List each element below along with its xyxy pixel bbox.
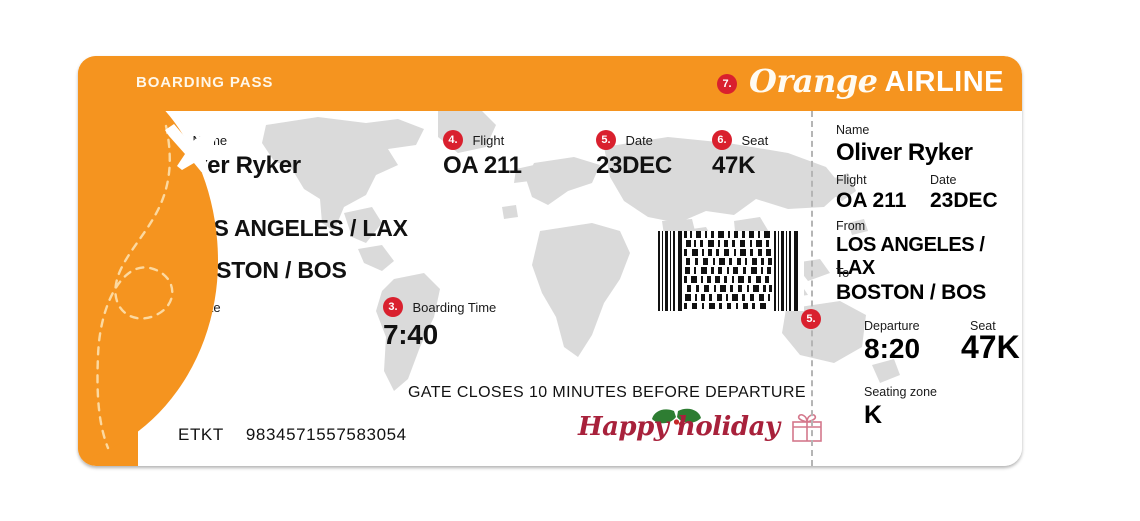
airline-brand: 7. Orange AIRLINE [717, 61, 1004, 106]
stub-seating-zone-label: Seating zone [864, 385, 937, 399]
stub-from-value: LOS ANGELES / LAX [836, 234, 1022, 280]
stub-date-label: Date [930, 173, 956, 187]
field-seat: 6. Seat 47K [712, 130, 768, 180]
badge-6: 6. [712, 130, 732, 150]
date-label: Date [625, 133, 652, 148]
stub-name-value: Oliver Ryker [836, 139, 973, 167]
stub-from-label: From [836, 219, 865, 233]
badge-7: 7. [717, 74, 737, 94]
stub-departure-value: 8:20 [864, 333, 920, 365]
stub-date-value: 23DEC [930, 189, 998, 213]
gift-box-icon [790, 411, 824, 443]
seat-label: Seat [741, 133, 768, 148]
boarding-time-label: Boarding Time [412, 300, 496, 315]
brand-bold-name: AIRLINE [885, 68, 1005, 100]
airplane-icon [160, 118, 224, 176]
field-flight: 4. Flight OA 211 [443, 130, 522, 180]
ticket-stub: Name Oliver Ryker Flight Date OA 211 23D… [828, 111, 1022, 466]
flight-value: OA 211 [443, 152, 522, 180]
stub-name-label: Name [836, 123, 869, 137]
stub-to-label: To [836, 266, 849, 280]
badge-5-departure: 5. [801, 309, 821, 329]
badge-3: 3. [383, 297, 403, 317]
field-date: 5. Date 23DEC [596, 130, 672, 180]
happy-holiday-mark: Happy holiday [578, 411, 824, 443]
brand-script-name: Orange [749, 65, 877, 102]
seat-value: 47K [712, 152, 768, 180]
pdf417-barcode [656, 231, 804, 311]
badge-5-date: 5. [596, 130, 616, 150]
gate-closes-notice: GATE CLOSES 10 MINUTES BEFORE DEPARTURE [408, 384, 806, 402]
from-label: From [182, 200, 408, 215]
holiday-text: Happy holiday [578, 412, 780, 442]
stub-seating-zone-value: K [864, 401, 882, 430]
page-title: BOARDING PASS [136, 74, 273, 91]
stub-departure-label: Departure [864, 319, 920, 333]
date-value: 23DEC [596, 152, 672, 180]
boarding-pass-card: BOARDING PASS 7. Orange AIRLINE [78, 56, 1022, 466]
tear-line-divider [811, 111, 813, 466]
field-boarding-time: 3. Boarding Time 7:40 [383, 297, 496, 351]
etkt-number: 9834571557583054 [246, 425, 407, 444]
stub-flight-label: Flight [836, 173, 867, 187]
stub-flight-value: OA 211 [836, 189, 906, 213]
ticket-header: BOARDING PASS 7. Orange AIRLINE [78, 56, 1022, 111]
badge-4: 4. [443, 130, 463, 150]
etkt-row: ETKT9834571557583054 [178, 425, 407, 445]
boarding-time-value: 7:40 [383, 319, 496, 351]
stub-to-value: BOSTON / BOS [836, 281, 986, 305]
flight-label: Flight [472, 133, 504, 148]
etkt-label: ETKT [178, 425, 224, 444]
stub-seat-value: 47K [961, 329, 1020, 366]
